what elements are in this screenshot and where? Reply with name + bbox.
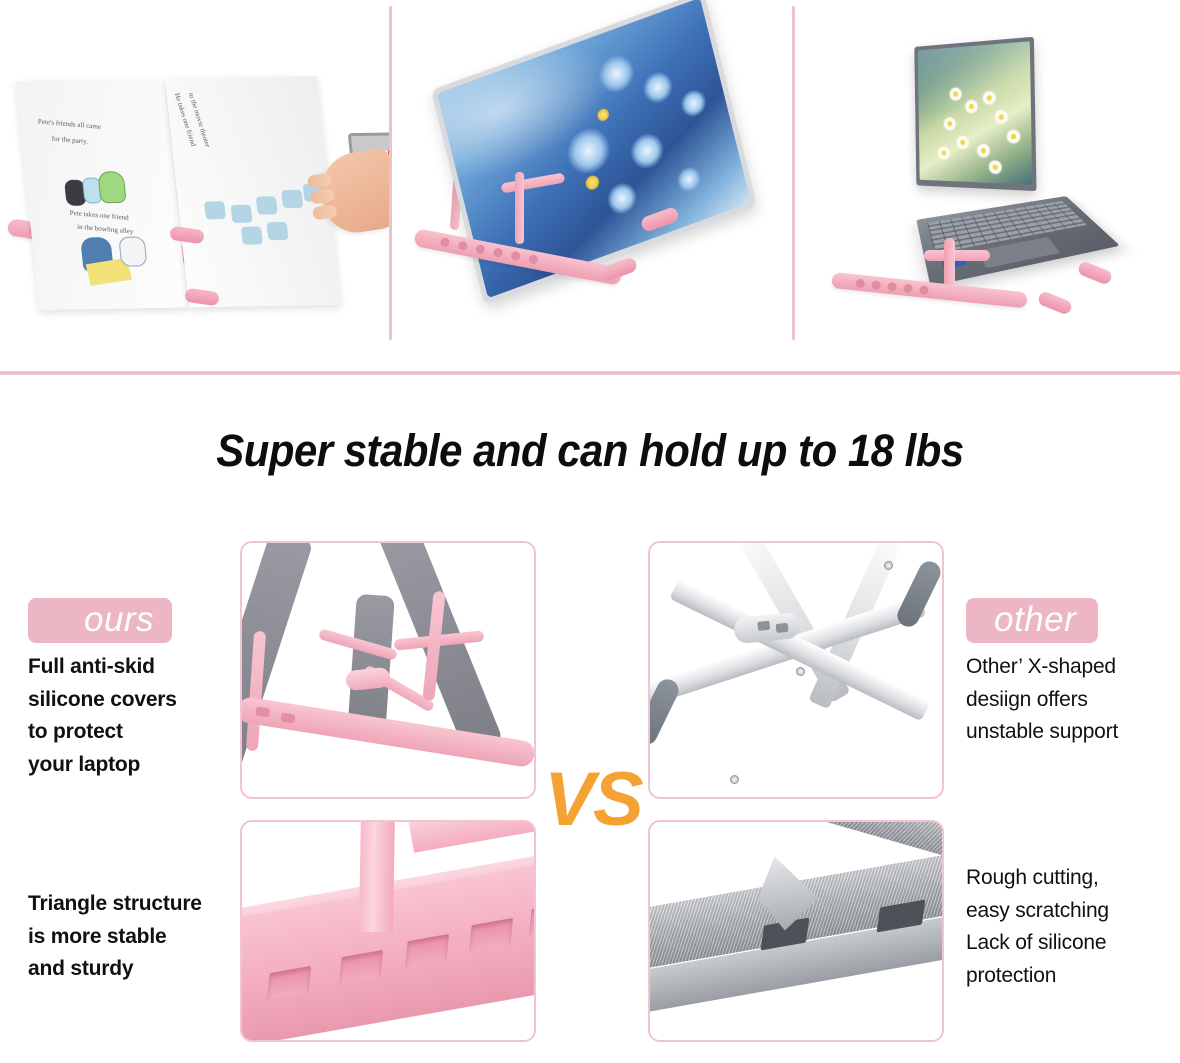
text-line: Rough cutting, (966, 862, 1180, 895)
laptop-stand-photo (796, 0, 1180, 360)
open-book: Pete's friends all came for the party. P… (15, 76, 340, 310)
other-bottom-text-block: Rough cutting, easy scratching Lack of s… (966, 862, 1180, 992)
text-line: desiign offers (966, 684, 1180, 717)
ours-top-photo (240, 541, 536, 799)
text-line: easy scratching (966, 895, 1180, 928)
other-badge: other (966, 598, 1098, 643)
other-top-description: Other’ X-shaped desiign offers unstable … (966, 651, 1180, 749)
text-line: is more stable (28, 921, 250, 954)
text-line: Full anti-skid (28, 651, 250, 684)
laptop-lid (914, 37, 1036, 191)
stand-front-lip (1077, 260, 1114, 286)
page-title: Super stable and can hold up to 18 lbs (41, 425, 1138, 477)
vs-label: VS (538, 762, 648, 838)
laptop-screen (918, 41, 1033, 184)
text-line: silicone covers (28, 684, 250, 717)
book-line: Pete takes one friend (70, 209, 129, 222)
stand-support-arm (515, 172, 524, 244)
gallery-divider (792, 6, 795, 340)
book-line: in the bowling alley (77, 223, 133, 236)
text-line: unstable support (966, 716, 1180, 749)
stand-front-lip (1037, 290, 1074, 316)
ours-top-text-block: ours Full anti-skid silicone covers to p… (28, 598, 250, 781)
book-stand-photo: Pete's friends all came for the party. P… (0, 0, 390, 360)
tablet-stand-photo (393, 0, 793, 360)
book-line: Pete's friends all came (38, 117, 101, 130)
stand-support-arm (359, 820, 395, 932)
book-doodle-frog (97, 171, 126, 203)
x-stand-leg (669, 579, 930, 722)
top-photo-gallery: Pete's friends all came for the party. P… (0, 0, 1180, 372)
text-line: Lack of silicone (966, 927, 1180, 960)
book-page-left: Pete's friends all came for the party. P… (15, 79, 188, 310)
stand-cross-arm (924, 250, 990, 261)
x-stand-screw (796, 667, 805, 676)
product-infographic: Pete's friends all came for the party. P… (0, 0, 1180, 1063)
other-top-photo (648, 541, 944, 799)
text-line: Other’ X-shaped (966, 651, 1180, 684)
stand-arm (408, 820, 536, 853)
x-stand-screw (884, 561, 893, 570)
text-line: your laptop (28, 749, 250, 782)
ours-bottom-description: Triangle structure is more stable and st… (28, 888, 250, 986)
book-line: for the party. (52, 135, 88, 146)
ours-badge: ours (28, 598, 172, 643)
other-bottom-description: Rough cutting, easy scratching Lack of s… (966, 862, 1180, 992)
text-line: to protect (28, 716, 250, 749)
silicone-pad (894, 558, 944, 631)
book-doodle-cat (118, 236, 147, 266)
text-line: Triangle structure (28, 888, 250, 921)
gallery-divider (389, 6, 392, 340)
section-divider (0, 371, 1180, 375)
x-stand-screw (730, 775, 739, 784)
text-line: protection (966, 960, 1180, 993)
other-bottom-photo (648, 820, 944, 1042)
ours-top-description: Full anti-skid silicone covers to protec… (28, 651, 250, 781)
tablet (431, 0, 757, 305)
ours-bottom-photo (240, 820, 536, 1042)
ours-bottom-text-block: Triangle structure is more stable and st… (28, 888, 250, 986)
text-line: and sturdy (28, 953, 250, 986)
other-top-text-block: other Other’ X-shaped desiign offers uns… (966, 598, 1180, 749)
